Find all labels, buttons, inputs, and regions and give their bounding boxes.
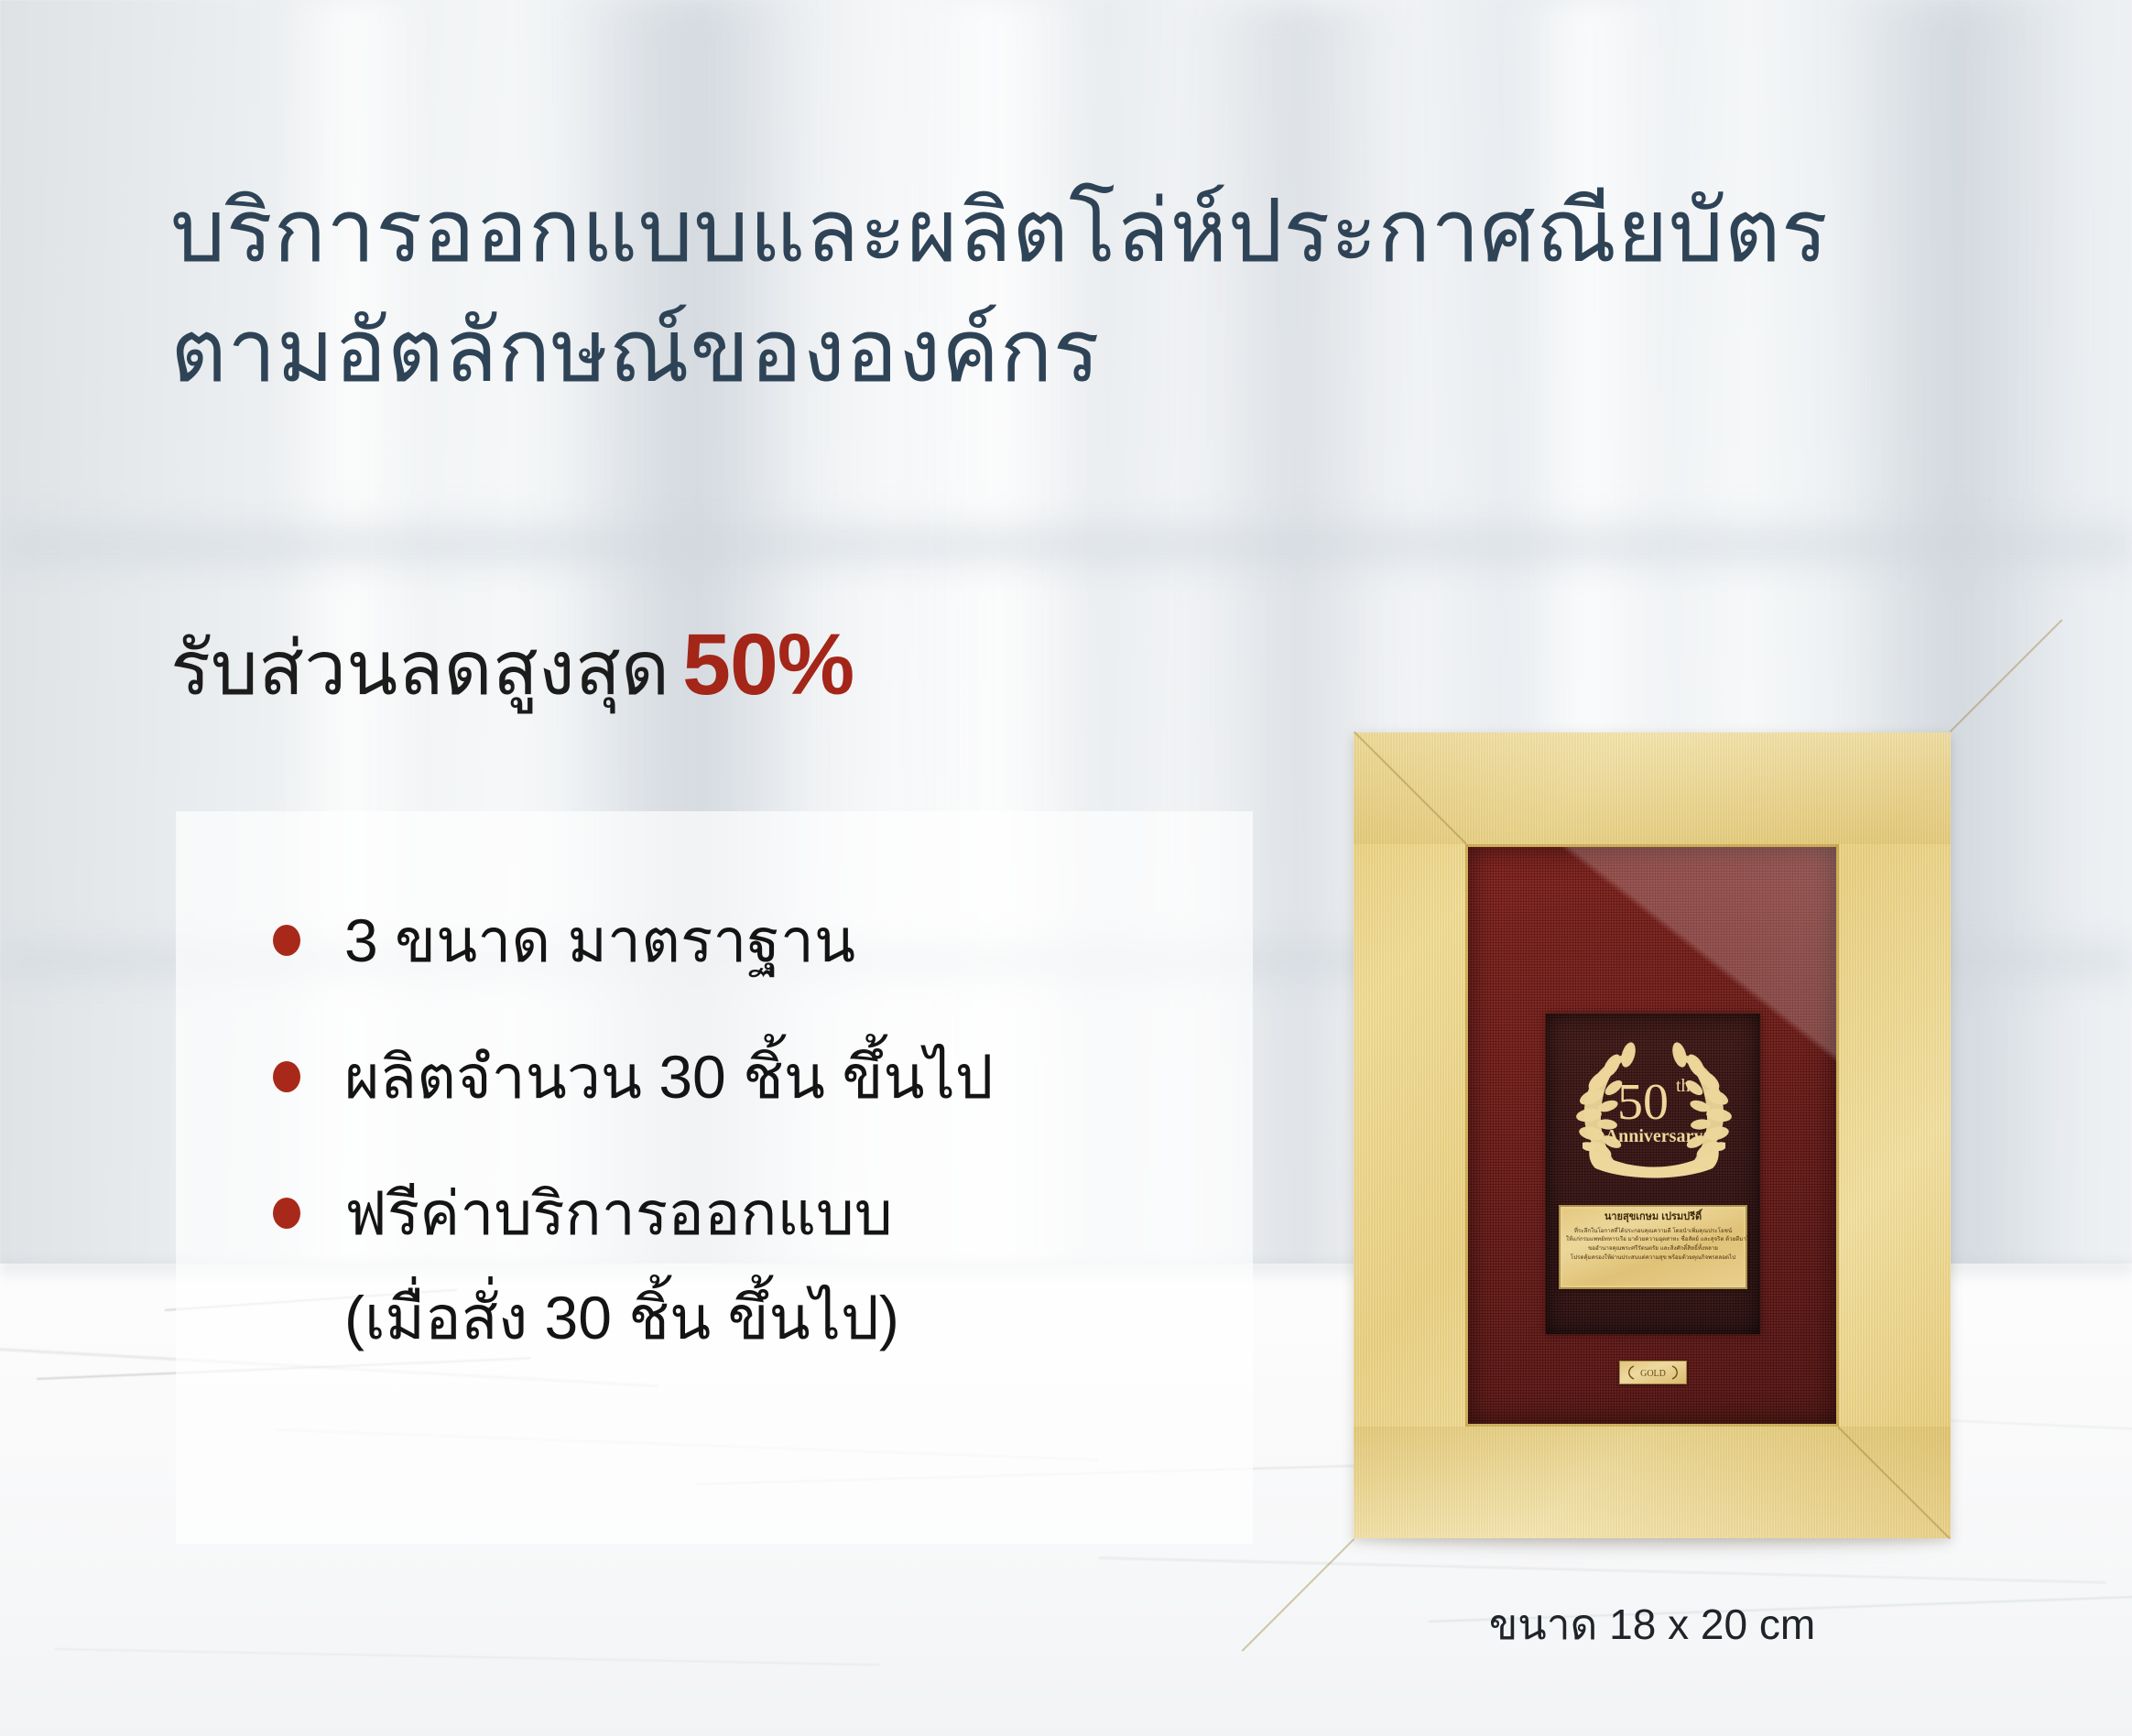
background-horizon-band: [0, 513, 2132, 577]
discount-percent: 50%: [682, 616, 854, 713]
frame-bottom-rail: [1354, 1427, 1951, 1538]
plaque-product-image: 50 th Anniversary นายสุขเกษม เปรมปรีดิ์ …: [1354, 732, 1951, 1538]
maker-logo-plate: GOLD: [1619, 1361, 1687, 1384]
bullet-dot-icon: [273, 1198, 300, 1229]
headline-line-2: ตามอัตลักษณ์ขององค์กร: [170, 292, 1672, 412]
frame-top-rail: [1354, 732, 1951, 844]
engraved-nameplate: นายสุขเกษม เปรมปรีดิ์ ที่ระลึกในโอกาสที่…: [1559, 1205, 1747, 1289]
features-list: 3 ขนาด มาตราฐาน ผลิตจำนวน 30 ชิ้น ขึ้นไป…: [273, 905, 1244, 1354]
bullet-dot-icon: [273, 925, 300, 956]
emblem-ordinal: th: [1676, 1076, 1691, 1096]
list-item-label: ผลิตจำนวน 30 ชิ้น ขึ้นไป: [344, 1041, 994, 1113]
bullet-dot-icon: [273, 1061, 300, 1092]
page-title: บริการออกแบบและผลิตโล่ห์ประกาศณียบัตร ตา…: [170, 172, 1672, 412]
promo-poster: บริการออกแบบและผลิตโล่ห์ประกาศณียบัตร ตา…: [0, 0, 2132, 1736]
gold-logo-icon: GOLD: [1625, 1363, 1681, 1382]
list-item: ผลิตจำนวน 30 ชิ้น ขึ้นไป: [273, 1041, 1244, 1113]
list-item-sublabel: (เมื่อสั่ง 30 ชิ้น ขึ้นไป): [344, 1282, 899, 1354]
anniversary-emblem-icon: 50 th Anniversary: [1566, 1035, 1742, 1181]
nameplate-line: ให้แก่กรมแพทย์ทหารเรือ มาด้วยความอุตสาหะ…: [1566, 1235, 1740, 1244]
list-item-label: ฟรีค่าบริการออกแบบ: [344, 1179, 893, 1247]
emblem-word: Anniversary: [1605, 1126, 1703, 1146]
discount-label: รับส่วนลดสูงสุด: [170, 627, 669, 711]
emblem-number: 50: [1617, 1074, 1669, 1131]
list-item-label: 3 ขนาด มาตราฐาน: [344, 905, 855, 977]
nameplate-line: ที่ระลึกในโอกาสที่ได้ประกอบคุณความดี โดย…: [1566, 1227, 1740, 1236]
nameplate-line: ขออำนาจคุณพระศรีรัตนตรัย และสิ่งศักดิ์สิ…: [1566, 1244, 1740, 1253]
headline-line-1: บริการออกแบบและผลิตโล่ห์ประกาศณียบัตร: [170, 183, 1828, 280]
list-item: ฟรีค่าบริการออกแบบ (เมื่อสั่ง 30 ชิ้น ขึ…: [273, 1177, 1244, 1353]
size-caption: ขนาด 18 x 20 cm: [1354, 1591, 1951, 1658]
nameplate-name: นายสุขเกษม เปรมปรีดิ์: [1566, 1211, 1740, 1224]
list-item: 3 ขนาด มาตราฐาน: [273, 905, 1244, 977]
nameplate-line: โปรดคุ้มครองให้ผ่านประสบแต่ความสุข พร้อม…: [1566, 1253, 1740, 1263]
svg-text:GOLD: GOLD: [1640, 1369, 1666, 1379]
list-item-body: ฟรีค่าบริการออกแบบ (เมื่อสั่ง 30 ชิ้น ขึ…: [344, 1177, 899, 1353]
discount-line: รับส่วนลดสูงสุด50%: [170, 615, 854, 715]
